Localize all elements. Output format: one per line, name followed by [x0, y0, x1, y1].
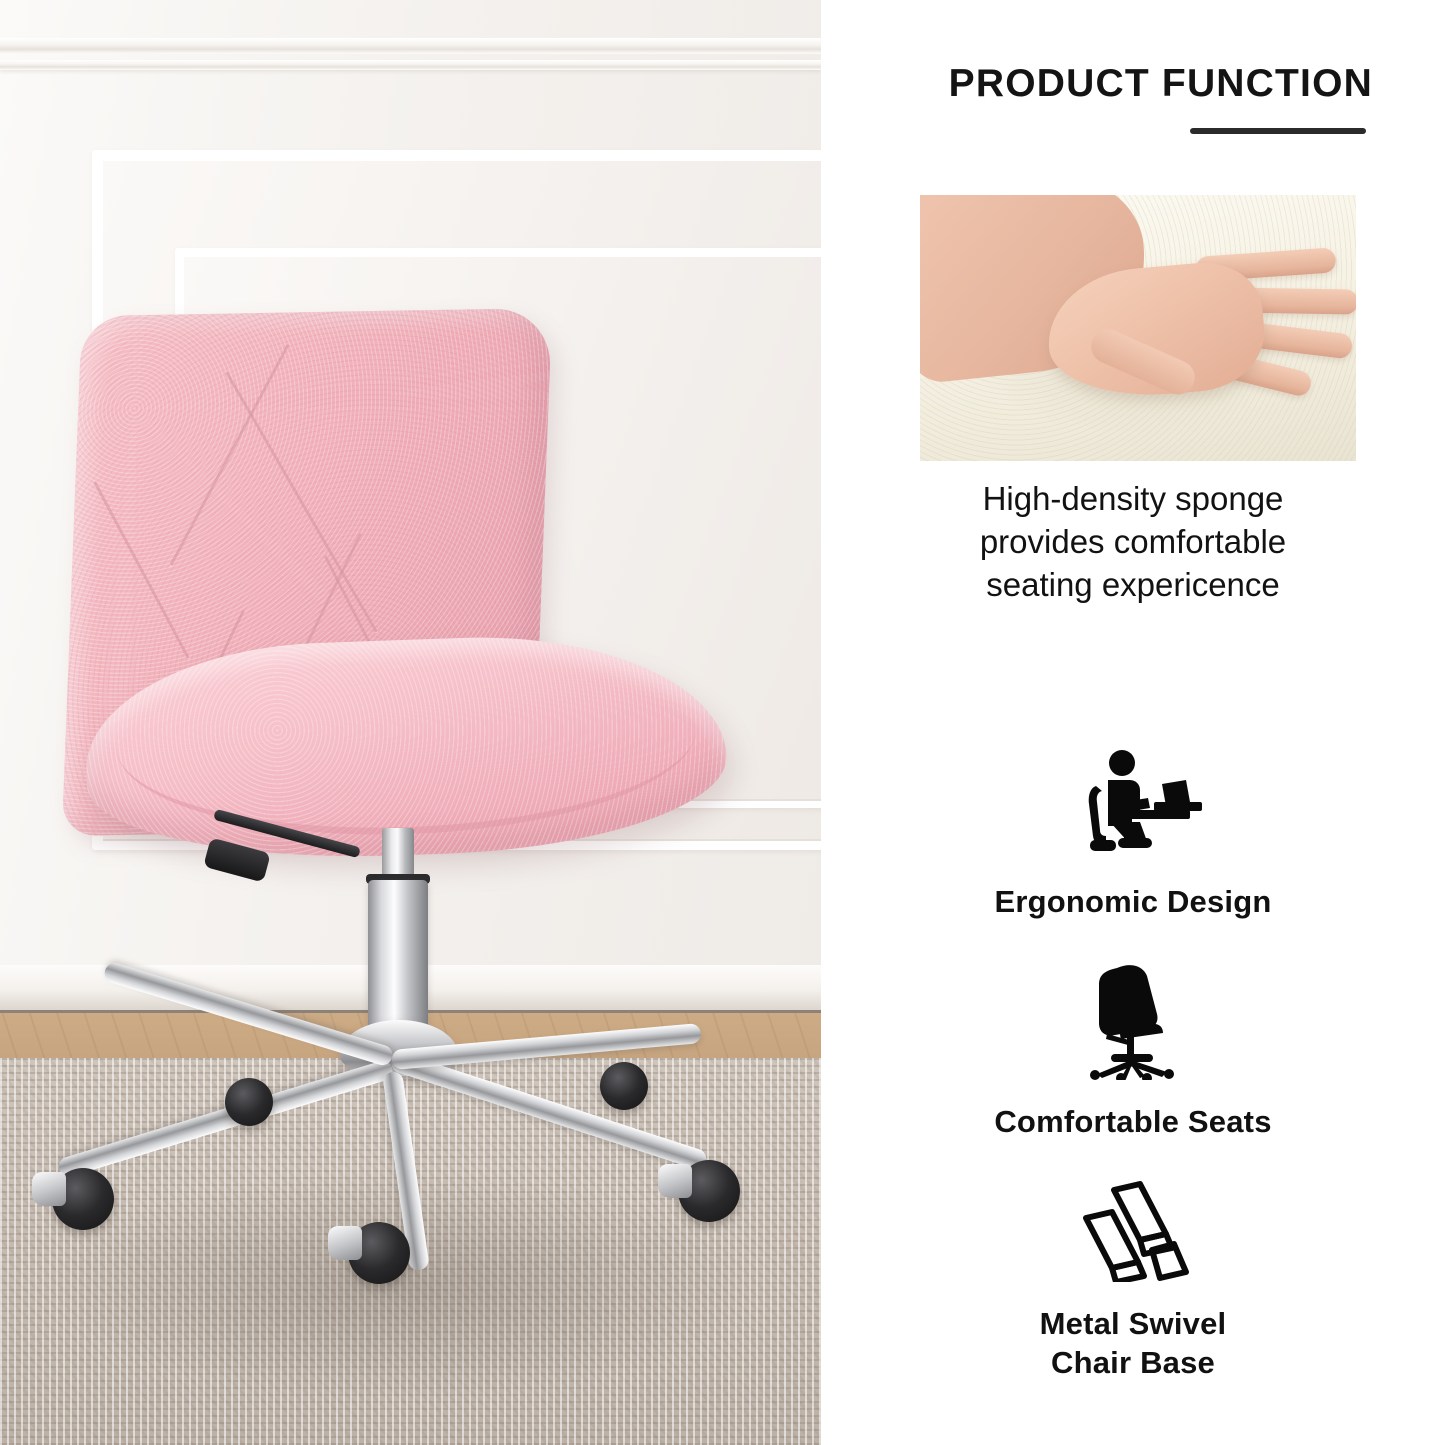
- feature-metal-swivel-base: Metal Swivel Chair Base: [821, 1178, 1445, 1382]
- caster-wheel: [225, 1078, 273, 1126]
- base-spoke: [102, 961, 395, 1068]
- feature-label: Metal Swivel Chair Base: [821, 1304, 1445, 1382]
- sponge-caption-line-3: seating expericence: [873, 564, 1393, 607]
- caster-wheel: [600, 1062, 648, 1110]
- feature-label-line-1: Metal Swivel: [821, 1304, 1445, 1343]
- metal-ingots-icon: [1068, 1178, 1198, 1282]
- caster-bracket: [32, 1172, 66, 1206]
- office-chair: [0, 0, 821, 1445]
- product-function-infographic: PRODUCT FUNCTION High-density sponge pro…: [0, 0, 1445, 1445]
- caster-bracket: [328, 1226, 362, 1260]
- page-title: PRODUCT FUNCTION: [949, 62, 1373, 106]
- caster-wheel: [52, 1168, 114, 1230]
- base-spoke: [56, 1058, 395, 1179]
- info-panel: PRODUCT FUNCTION High-density sponge pro…: [821, 0, 1445, 1445]
- feature-label: Comfortable Seats: [821, 1102, 1445, 1141]
- caster-wheel: [348, 1222, 410, 1284]
- feature-label: Ergonomic Design: [821, 882, 1445, 921]
- sponge-caption-line-2: provides comfortable: [873, 521, 1393, 564]
- feature-comfortable-seats: Comfortable Seats: [821, 962, 1445, 1141]
- caster-wheel: [678, 1160, 740, 1222]
- hero-product-photo: [0, 0, 821, 1445]
- person-seated-at-desk-icon: [1058, 748, 1208, 860]
- title-underline: [1190, 128, 1366, 134]
- office-chair-icon: [1071, 962, 1195, 1080]
- caster-bracket: [658, 1164, 692, 1198]
- sponge-photo: [920, 195, 1356, 461]
- sponge-caption: High-density sponge provides comfortable…: [873, 478, 1393, 607]
- base-spoke: [389, 1050, 709, 1171]
- gas-lift-cylinder: [368, 880, 428, 1040]
- feature-label-line-2: Chair Base: [821, 1343, 1445, 1382]
- feature-ergonomic-design: Ergonomic Design: [821, 748, 1445, 921]
- sponge-caption-line-1: High-density sponge: [873, 478, 1393, 521]
